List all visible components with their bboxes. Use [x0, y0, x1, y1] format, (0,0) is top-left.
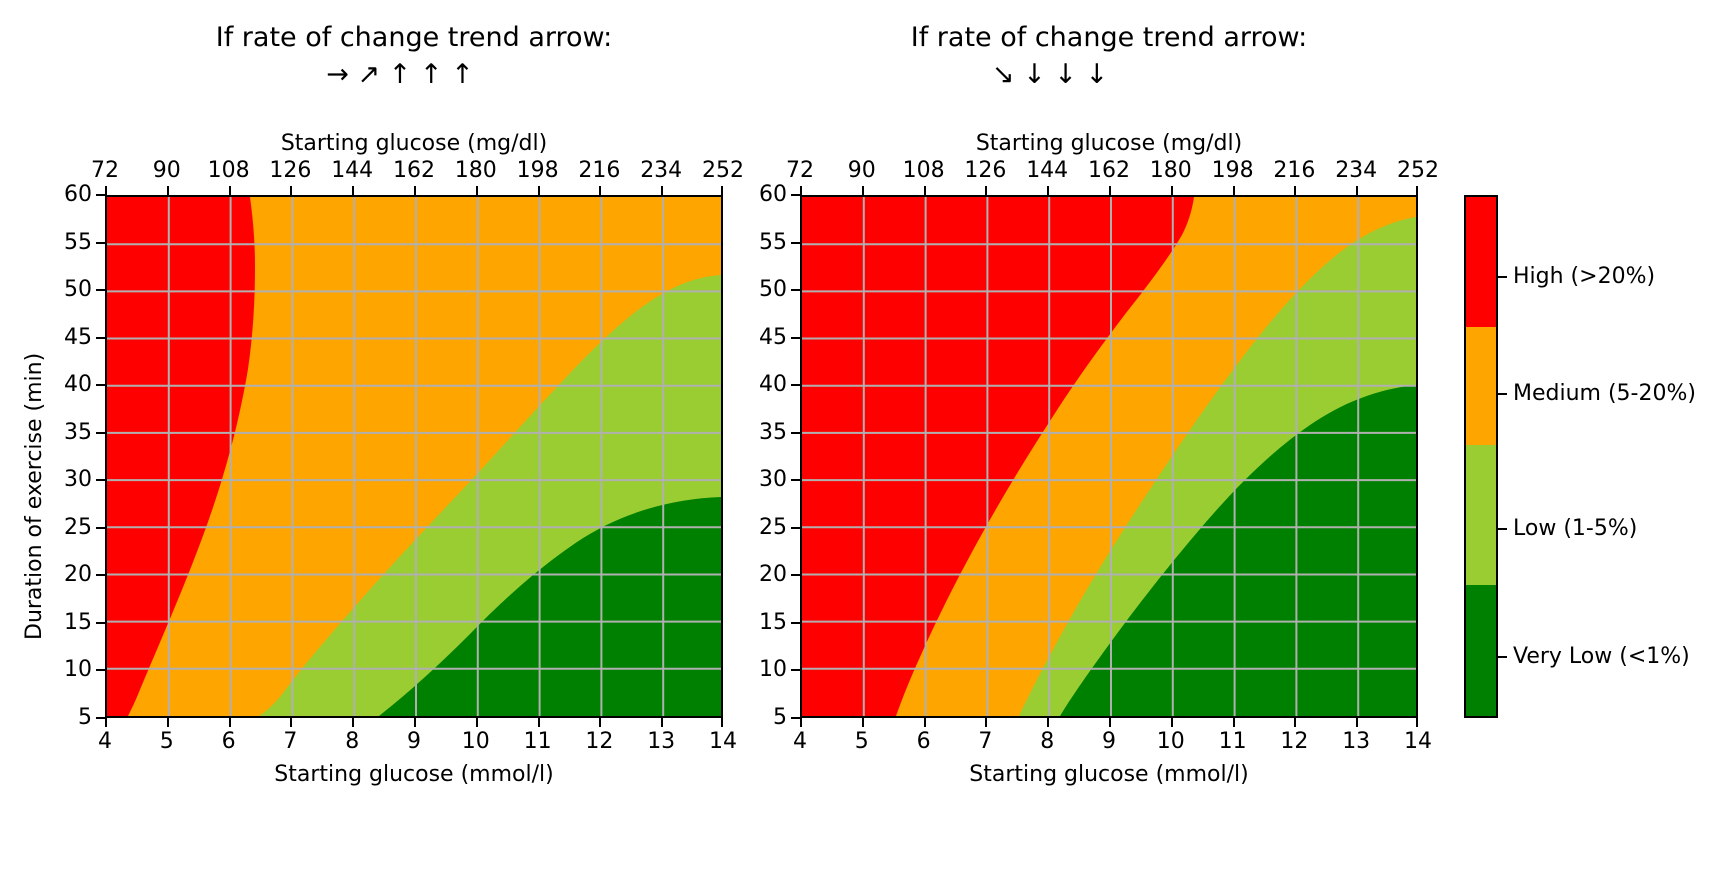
colorbar-tick-high	[1498, 276, 1507, 278]
tick-label: 252	[702, 158, 744, 184]
top-tick-mark	[800, 186, 802, 195]
tick-label: 4	[793, 729, 807, 755]
bottom-tick-mark	[167, 718, 169, 727]
tick-label: 126	[964, 158, 1006, 184]
tick-label: 72	[91, 158, 119, 184]
y-tick-label: 50	[745, 277, 787, 303]
y-tick-label: 25	[745, 515, 787, 541]
bottom-tick-mark	[1047, 718, 1049, 727]
bottom-tick-mark	[290, 718, 292, 727]
panel-title-falling: If rate of change trend arrow:	[800, 22, 1418, 54]
tick-label: 9	[1102, 729, 1116, 755]
plot-area-rising[interactable]	[105, 195, 723, 718]
tick-label: 108	[903, 158, 945, 184]
colorbar-label-medium: Medium (5-20%)	[1513, 381, 1696, 407]
colorbar-segment-medium	[1466, 327, 1496, 445]
top-tick-mark	[1356, 186, 1358, 195]
top-tick-mark	[924, 186, 926, 195]
bottom-tick-mark	[1109, 718, 1111, 727]
top-tick-mark	[105, 186, 107, 195]
tick-label: 12	[585, 729, 613, 755]
y-tick-label: 20	[745, 562, 787, 588]
top-tick-mark	[1171, 186, 1173, 195]
y-tick-label: 45	[50, 325, 92, 351]
bottom-tick-mark	[1356, 718, 1358, 727]
tick-label: 5	[855, 729, 869, 755]
bottom-axis-title-left: Starting glucose (mmol/l)	[105, 762, 723, 788]
top-tick-mark	[985, 186, 987, 195]
panel-title-rising: If rate of change trend arrow:	[105, 22, 723, 54]
y-tick-label: 30	[50, 467, 92, 493]
tick-label: 11	[524, 729, 552, 755]
tick-label: 14	[709, 729, 737, 755]
tick-label: 216	[1273, 158, 1315, 184]
top-tick-mark	[599, 186, 601, 195]
top-tick-mark	[290, 186, 292, 195]
tick-label: 9	[407, 729, 421, 755]
y-tick-label: 20	[50, 562, 92, 588]
bottom-tick-mark	[800, 718, 802, 727]
top-axis-title-right: Starting glucose (mg/dl)	[800, 131, 1418, 157]
tick-label: 8	[1040, 729, 1054, 755]
tick-label: 144	[1026, 158, 1068, 184]
colorbar-label-very-low: Very Low (<1%)	[1513, 644, 1690, 670]
tick-label: 180	[1150, 158, 1192, 184]
tick-label: 10	[462, 729, 490, 755]
tick-label: 8	[345, 729, 359, 755]
colorbar-label-high: High (>20%)	[1513, 264, 1655, 290]
tick-label: 126	[269, 158, 311, 184]
bottom-tick-mark	[862, 718, 864, 727]
tick-label: 7	[978, 729, 992, 755]
y-tick-label: 35	[745, 420, 787, 446]
top-tick-mark	[1294, 186, 1296, 195]
y-tick-label: 60	[745, 182, 787, 208]
tick-label: 144	[331, 158, 373, 184]
bottom-tick-mark	[924, 718, 926, 727]
contour-map-falling	[802, 197, 1416, 716]
y-tick-label: 10	[50, 657, 92, 683]
bottom-tick-mark	[1294, 718, 1296, 727]
tick-label: 13	[647, 729, 675, 755]
tick-label: 10	[1157, 729, 1185, 755]
y-tick-label: 5	[50, 705, 92, 731]
tick-label: 108	[208, 158, 250, 184]
plot-area-falling[interactable]	[800, 195, 1418, 718]
contour-map-rising	[107, 197, 721, 716]
tick-label: 162	[393, 158, 435, 184]
top-tick-mark	[1047, 186, 1049, 195]
tick-label: 198	[1212, 158, 1254, 184]
top-axis-title-left: Starting glucose (mg/dl)	[105, 131, 723, 157]
bottom-tick-mark	[476, 718, 478, 727]
bottom-tick-mark	[1171, 718, 1173, 727]
y-tick-label: 25	[50, 515, 92, 541]
top-tick-mark	[476, 186, 478, 195]
bottom-tick-mark	[105, 718, 107, 727]
tick-label: 234	[1335, 158, 1377, 184]
bottom-tick-mark	[985, 718, 987, 727]
bottom-tick-mark	[538, 718, 540, 727]
bottom-tick-labels-right: 4 5 6 7 8 9 10 11 12 13 14	[800, 729, 1418, 755]
figure-canvas: If rate of change trend arrow: → ↗ ↑ ↑ ↑…	[0, 0, 1724, 880]
tick-label: 4	[98, 729, 112, 755]
tick-label: 198	[517, 158, 559, 184]
top-tick-mark	[1416, 186, 1418, 195]
y-tick-label: 35	[50, 420, 92, 446]
y-tick-label: 45	[745, 325, 787, 351]
panel-arrows-falling: ↘ ↓ ↓ ↓	[900, 60, 1200, 90]
top-tick-mark	[352, 186, 354, 195]
top-tick-mark	[538, 186, 540, 195]
colorbar-label-low: Low (1-5%)	[1513, 516, 1637, 542]
top-tick-mark	[414, 186, 416, 195]
tick-label: 90	[153, 158, 181, 184]
bottom-tick-mark	[1416, 718, 1418, 727]
top-tick-mark	[167, 186, 169, 195]
top-tick-labels-right: 72 90 108 126 144 162 180 198 216 234 25…	[800, 158, 1418, 184]
tick-label: 11	[1219, 729, 1247, 755]
y-tick-label: 15	[745, 610, 787, 636]
bottom-tick-mark	[414, 718, 416, 727]
tick-label: 234	[640, 158, 682, 184]
top-tick-mark	[229, 186, 231, 195]
y-tick-label: 30	[745, 467, 787, 493]
bottom-tick-mark	[352, 718, 354, 727]
tick-label: 14	[1404, 729, 1432, 755]
top-tick-mark	[862, 186, 864, 195]
top-tick-mark	[1109, 186, 1111, 195]
bottom-tick-mark	[661, 718, 663, 727]
tick-label: 6	[917, 729, 931, 755]
tick-label: 180	[455, 158, 497, 184]
bottom-tick-labels-left: 4 5 6 7 8 9 10 11 12 13 14	[105, 729, 723, 755]
y-tick-label: 60	[50, 182, 92, 208]
colorbar-segment-high	[1466, 197, 1496, 327]
bottom-tick-mark	[599, 718, 601, 727]
tick-label: 162	[1088, 158, 1130, 184]
colorbar-tick-medium	[1498, 393, 1507, 395]
y-tick-label: 55	[50, 230, 92, 256]
bottom-tick-mark	[229, 718, 231, 727]
bottom-tick-mark	[721, 718, 723, 727]
tick-label: 7	[283, 729, 297, 755]
top-tick-mark	[661, 186, 663, 195]
bottom-axis-title-right: Starting glucose (mmol/l)	[800, 762, 1418, 788]
tick-label: 72	[786, 158, 814, 184]
y-tick-label: 10	[745, 657, 787, 683]
y-axis-title-left: Duration of exercise (min)	[22, 353, 48, 640]
y-tick-label: 40	[50, 372, 92, 398]
tick-label: 252	[1397, 158, 1439, 184]
top-tick-mark	[721, 186, 723, 195]
risk-colorbar[interactable]	[1464, 195, 1498, 718]
colorbar-segment-low	[1466, 445, 1496, 585]
y-tick-label: 55	[745, 230, 787, 256]
tick-label: 12	[1280, 729, 1308, 755]
tick-label: 6	[222, 729, 236, 755]
bottom-tick-mark	[1233, 718, 1235, 727]
colorbar-segment-very-low	[1466, 585, 1496, 716]
tick-label: 5	[160, 729, 174, 755]
panel-arrows-rising: → ↗ ↑ ↑ ↑	[160, 60, 640, 90]
y-tick-label: 40	[745, 372, 787, 398]
colorbar-tick-very-low	[1498, 656, 1507, 658]
colorbar-tick-low	[1498, 528, 1507, 530]
top-tick-labels-left: 72 90 108 126 144 162 180 198 216 234 25…	[105, 158, 723, 184]
tick-label: 216	[578, 158, 620, 184]
y-tick-label: 50	[50, 277, 92, 303]
tick-label: 90	[848, 158, 876, 184]
y-tick-label: 5	[745, 705, 787, 731]
y-tick-label: 15	[50, 610, 92, 636]
tick-label: 13	[1342, 729, 1370, 755]
top-tick-mark	[1233, 186, 1235, 195]
